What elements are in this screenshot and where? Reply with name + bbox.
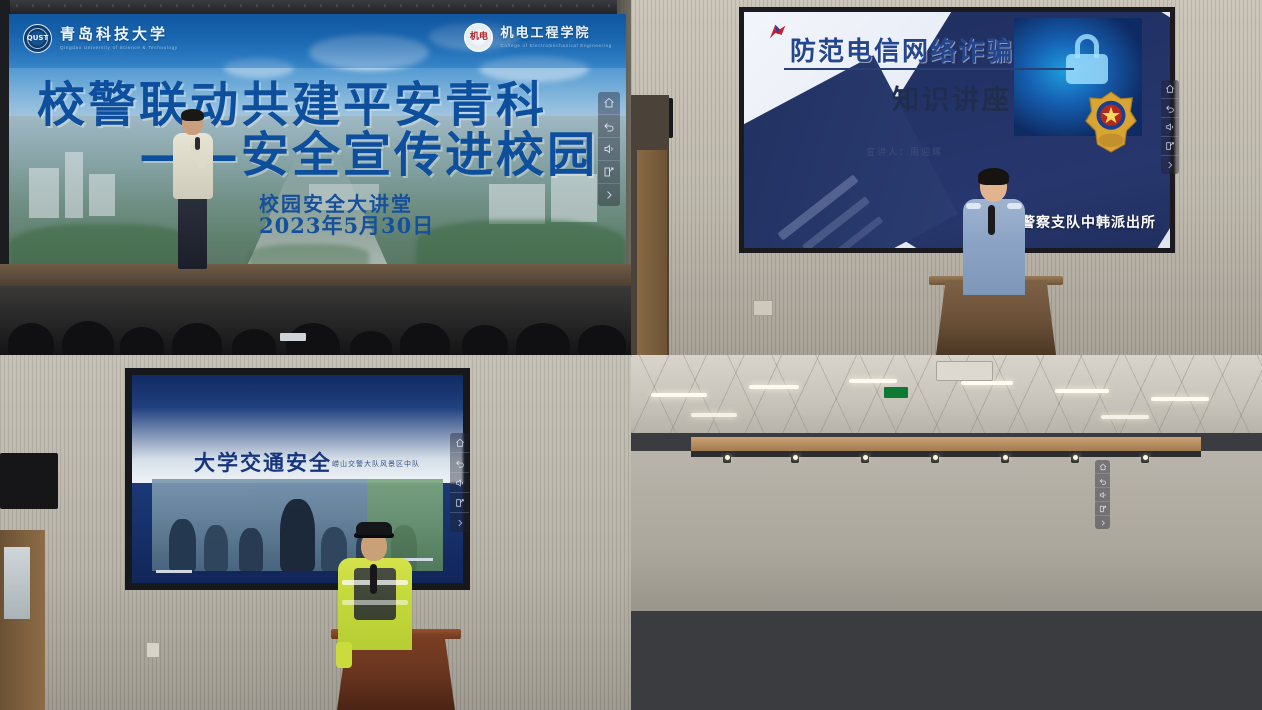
- college-name-cn: 机电工程学院: [500, 27, 612, 41]
- wall-monitor: [0, 453, 58, 509]
- university-name-en: Qingdao University of Science & Technolo…: [60, 45, 178, 50]
- slide-title: 防范电信网络诈骗: [790, 31, 1014, 68]
- wooden-door: [637, 150, 667, 355]
- volume-icon[interactable]: [450, 472, 469, 492]
- home-icon[interactable]: [450, 433, 469, 452]
- college-logo-block: 机电 机电工程学院 College of Electromechanical E…: [464, 23, 612, 52]
- panel-top-left[interactable]: QUST 青岛科技大学 Qingdao University of Scienc…: [0, 0, 631, 355]
- chevron-right-icon[interactable]: [1095, 515, 1110, 529]
- chevron-right-icon[interactable]: [1161, 155, 1179, 174]
- padlock-icon: [1066, 34, 1108, 84]
- overlay-toolbar[interactable]: [1161, 80, 1179, 174]
- slide-title-line1: 校警联动共建平安青科: [37, 82, 547, 129]
- undo-arrow-icon[interactable]: [1095, 473, 1110, 487]
- slide-subtitle-date: 2023年5月30日: [259, 210, 434, 240]
- qust-seal-icon: QUST: [23, 24, 52, 53]
- panel-bottom-right[interactable]: 珍爱生命 远离毒品 珍爱生命 远离毒品 黄岛区禁毒教育办公室: [631, 355, 1262, 710]
- police-badge-icon: [1082, 90, 1140, 156]
- microphone-icon: [370, 564, 377, 594]
- microphone-icon: [988, 205, 995, 235]
- college-seal-icon: 机电: [464, 23, 493, 52]
- traffic-officer-person: [338, 524, 412, 650]
- ceiling-strip: [0, 0, 631, 14]
- overlay-toolbar[interactable]: [450, 433, 469, 532]
- wall-outlet: [753, 300, 773, 316]
- speaker-person: [170, 111, 216, 271]
- volume-icon[interactable]: [1095, 487, 1110, 501]
- edit-square-icon[interactable]: [1161, 136, 1179, 155]
- door-glass-pane: [4, 547, 30, 619]
- led-wall-screen: QUST 青岛科技大学 Qingdao University of Scienc…: [9, 14, 626, 276]
- college-name-en: College of Electromechanical Engineering: [500, 43, 612, 48]
- wall-switch: [146, 642, 160, 658]
- slide-subtitle: 知识讲座: [892, 78, 1012, 117]
- chevron-right-icon[interactable]: [450, 512, 469, 532]
- undo-arrow-icon[interactable]: [450, 452, 469, 472]
- undo-arrow-icon[interactable]: [598, 114, 620, 137]
- volume-icon[interactable]: [1161, 117, 1179, 136]
- wood-beam: [691, 437, 1201, 451]
- speaker-person: [961, 171, 1027, 291]
- home-icon[interactable]: [1161, 80, 1179, 98]
- slide-presenter: 宣讲人：周迎辉: [866, 145, 943, 158]
- slide-divider: [784, 68, 1074, 70]
- panel-bottom-left[interactable]: 大学交通安全 崂山交警大队风景区中队: [0, 355, 631, 710]
- university-logo-block: QUST 青岛科技大学 Qingdao University of Scienc…: [23, 24, 178, 53]
- overlay-toolbar[interactable]: [598, 92, 620, 206]
- overlay-toolbar[interactable]: [1095, 460, 1110, 529]
- university-name-cn: 青岛科技大学: [60, 27, 178, 43]
- undo-arrow-icon[interactable]: [1161, 98, 1179, 117]
- microphone-icon: [195, 137, 200, 150]
- volume-icon[interactable]: [598, 137, 620, 160]
- home-icon[interactable]: [598, 92, 620, 114]
- back-wall: [631, 451, 1262, 611]
- home-icon[interactable]: [1095, 460, 1110, 473]
- chevron-right-icon[interactable]: [598, 183, 620, 206]
- projection-screen: 防范电信网络诈骗 知识讲座 宣讲人：周迎辉 海岸警察支队中韩派出所: [739, 7, 1175, 253]
- stage-edge: [0, 264, 631, 286]
- edit-square-icon[interactable]: [1095, 501, 1110, 515]
- edit-square-icon[interactable]: [450, 492, 469, 512]
- lighting-track: [691, 451, 1201, 457]
- slide-title: 大学交通安全: [194, 447, 332, 477]
- air-conditioner-vent: [936, 361, 993, 381]
- photo-collage-grid: QUST 青岛科技大学 Qingdao University of Scienc…: [0, 0, 1262, 710]
- edit-square-icon[interactable]: [598, 160, 620, 183]
- party-flag-icon: [766, 22, 790, 44]
- audience-silhouettes: [0, 291, 631, 355]
- slide-subtitle: 崂山交警大队风景区中队: [332, 459, 420, 469]
- exit-sign: [884, 387, 908, 398]
- projection-screen: 大学交通安全 崂山交警大队风景区中队: [125, 368, 470, 590]
- panel-top-right[interactable]: 防范电信网络诈骗 知识讲座 宣讲人：周迎辉 海岸警察支队中韩派出所: [631, 0, 1262, 355]
